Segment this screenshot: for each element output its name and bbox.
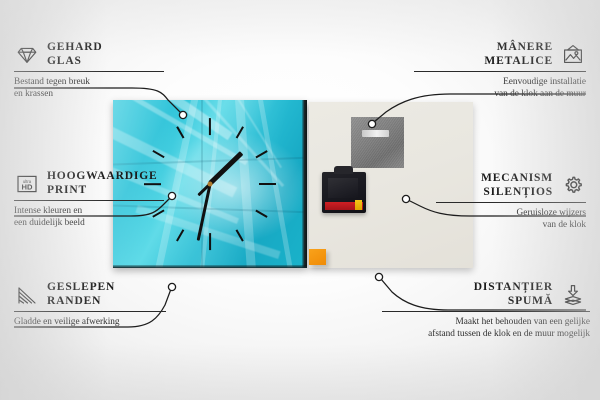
clock-tick: [176, 126, 184, 138]
clock-tick: [259, 183, 276, 185]
clock-mechanism: [322, 172, 366, 213]
callout-desc-line1: Maakt het behouden van een gelijke: [382, 316, 590, 328]
callout-desc-line2: van de klok aan de muur: [414, 88, 586, 100]
callout-rule: [14, 200, 164, 201]
hatch-lines-icon: [14, 283, 40, 307]
callout-geslepen-randen: GESLEPEN RANDEN Gladde en veilige afwerk…: [14, 281, 166, 328]
connector-dot-randen: [168, 283, 175, 290]
callout-desc-line2: afstand tussen de klok en de muur mogeli…: [382, 328, 590, 340]
callout-description: Gladde en veilige afwerking: [14, 316, 166, 328]
mechanism-highlight: [328, 178, 358, 198]
callout-title-line2: PRINT: [47, 184, 158, 198]
ultra-hd-icon: ultra HD: [14, 172, 40, 196]
callout-mecanism-silentios: MECANISM SILENȚIOS Geruisloze wijzers va…: [436, 172, 586, 231]
callout-description: Bestand tegen breuk en krassen: [14, 76, 164, 100]
callout-rule: [14, 71, 164, 72]
clock-tick: [236, 229, 244, 241]
callout-desc-line2: en krassen: [14, 88, 164, 100]
callout-title-line2: RANDEN: [47, 295, 115, 309]
callout-title: GESLEPEN: [47, 281, 115, 295]
spacer-arrow-icon: [560, 283, 586, 307]
callout-rule: [382, 311, 590, 312]
diamond-icon: [14, 43, 40, 67]
callout-title-line2: SPUMĂ: [474, 295, 553, 309]
callout-title: GEHARD: [47, 41, 103, 55]
clock-tick: [176, 229, 184, 241]
infographic-canvas: GEHARD GLAS Bestand tegen breuk en krass…: [0, 0, 600, 400]
hanging-picture-icon: [560, 43, 586, 67]
clock-tick: [255, 210, 267, 218]
callout-desc-line1: Geruisloze wijzers: [436, 207, 586, 219]
mechanism-lug: [334, 166, 353, 174]
foam-spacer: [309, 249, 326, 265]
callout-title-line2: GLAS: [47, 55, 103, 69]
callout-description: Eenvoudige installatie van de klok aan d…: [414, 76, 586, 100]
callout-description: Geruisloze wijzers van de klok: [436, 207, 586, 231]
callout-title-line2: METALICE: [484, 55, 553, 69]
callout-desc-line1: Intense kleuren en: [14, 205, 164, 217]
gear-icon: [560, 174, 586, 198]
clock-tick: [236, 126, 244, 138]
callout-title-line2: SILENȚIOS: [481, 186, 553, 200]
hd-label: HD: [22, 182, 33, 191]
callout-title: MÂNERE: [484, 41, 553, 55]
callout-rule: [14, 311, 166, 312]
clock-tick: [255, 150, 267, 158]
callout-distantier-spuma: DISTANȚIER SPUMĂ Maakt het behouden van …: [382, 281, 590, 340]
callout-title: DISTANȚIER: [474, 281, 553, 295]
callout-rule: [414, 71, 586, 72]
callout-desc-line1: Eenvoudige installatie: [414, 76, 586, 88]
clock-tick: [209, 118, 211, 135]
callout-gehard-glas: GEHARD GLAS Bestand tegen breuk en krass…: [14, 41, 164, 100]
product-assembly: [113, 100, 473, 276]
clock-tick: [209, 233, 211, 250]
callout-desc-line1: Gladde en veilige afwerking: [14, 316, 166, 328]
callout-desc-line2: een duidelijk beeld: [14, 217, 164, 229]
clock-center-pin: [208, 182, 213, 187]
hanger-texture: [351, 117, 404, 168]
clock-hour-hand: [208, 152, 243, 186]
callout-title: MECANISM: [481, 172, 553, 186]
callout-desc-line1: Bestand tegen breuk: [14, 76, 164, 88]
callout-desc-line2: van de klok: [436, 219, 586, 231]
callout-hoogwaardige-print: ultra HD HOOGWAARDIGE PRINT Intense kleu…: [14, 170, 164, 229]
clock-tick: [152, 150, 164, 158]
metal-hanger: [351, 117, 404, 168]
mechanism-label: [325, 202, 363, 210]
callout-title: HOOGWAARDIGE: [47, 170, 158, 184]
callout-description: Maakt het behouden van een gelijke afsta…: [382, 316, 590, 340]
callout-description: Intense kleuren en een duidelijk beeld: [14, 205, 164, 229]
callout-manere-metalice: MÂNERE METALICE Eenvoudige installatie v…: [414, 41, 586, 100]
callout-rule: [436, 202, 586, 203]
